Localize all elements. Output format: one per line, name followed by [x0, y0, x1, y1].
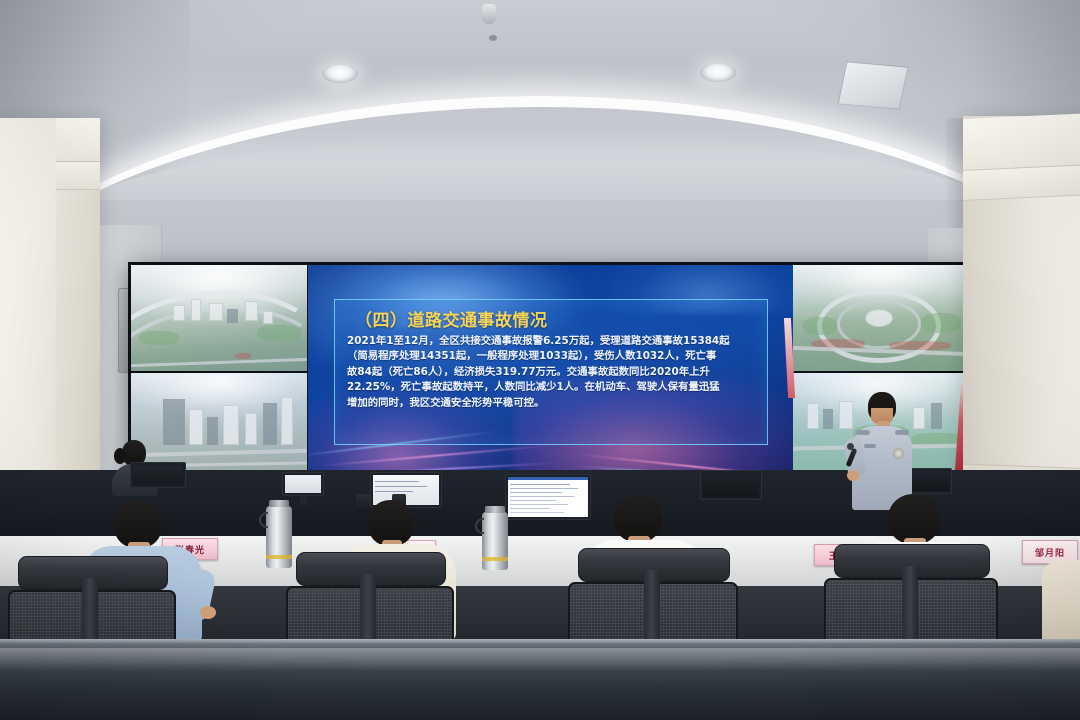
column-cap [963, 165, 1080, 201]
thermos-lid [485, 506, 505, 513]
person-head [888, 494, 940, 544]
police-badge-icon [893, 448, 904, 459]
shoulder-board-icon [856, 430, 870, 435]
counter-edge [0, 639, 1080, 643]
person-hair [114, 448, 126, 464]
slide-body: 2021年1至12月，全区共接交通事故报警6.25万起，受理道路交通事故1538… [347, 334, 755, 411]
person-torso [1042, 560, 1080, 650]
downlight-icon [322, 64, 358, 83]
slide-title: （四）道路交通事故情况 [347, 306, 755, 331]
thermos-handle [259, 512, 268, 528]
workstation-monitor[interactable] [282, 472, 324, 496]
workstation-monitor-document[interactable] [505, 474, 591, 520]
slide-body-line: 22.25%，死亡事故起数持平，人数同比减少1人。在机动车、驾驶人保有量迅猛 [347, 380, 755, 395]
smoke-detector-icon [482, 4, 496, 24]
nameplate-label: 邹月阳 [1035, 546, 1065, 559]
thermos-band [482, 557, 508, 561]
slide-body-line: 故84起（死亡86人），经济损失319.77万元。交通事故起数同比2020年上升 [347, 365, 755, 380]
person-hand [200, 606, 216, 619]
workstation-monitor[interactable] [130, 462, 186, 488]
command-center-scene: （四）道路交通事故情况 2021年1至12月，全区共接交通事故报警6.25万起，… [0, 0, 1080, 720]
thermos-handle [475, 518, 484, 534]
sprinkler-icon [489, 35, 497, 41]
downlight-icon [700, 63, 736, 82]
monitor-stand [300, 496, 307, 505]
microphone-head-icon [847, 443, 854, 450]
column-cap [963, 113, 1080, 171]
thermos-lid [269, 500, 289, 507]
shoulder-board-icon [895, 430, 909, 435]
person-head [614, 494, 662, 542]
person-head [114, 500, 162, 548]
video-tile-aerial-interchange[interactable] [131, 265, 307, 373]
slide-content-box: （四）道路交通事故情况 2021年1至12月，全区共接交通事故报警6.25万起，… [334, 299, 768, 445]
main-presentation-screen[interactable]: （四）道路交通事故情况 2021年1至12月，全区共接交通事故报警6.25万起，… [308, 265, 794, 481]
thermos-flask [482, 512, 508, 570]
presenter-hand [847, 470, 859, 481]
air-vent-icon [837, 61, 908, 109]
presenting-officer [852, 392, 914, 510]
slide-body-line: （简易程序处理14351起，一般程序处理1033起），受伤人数1032人，死亡事 [347, 349, 755, 364]
slide-body-line: 增加的同时，我区交通安全形势平稳可控。 [347, 396, 755, 411]
counter-gloss-reflection [0, 648, 1080, 670]
video-tile-aerial-roundabout[interactable] [793, 265, 969, 373]
seated-person-5-partial [1042, 560, 1080, 650]
name-tag-icon [864, 444, 876, 448]
slide-body-line: 2021年1至12月，全区共接交通事故报警6.25万起，受理道路交通事故1538… [347, 334, 755, 349]
